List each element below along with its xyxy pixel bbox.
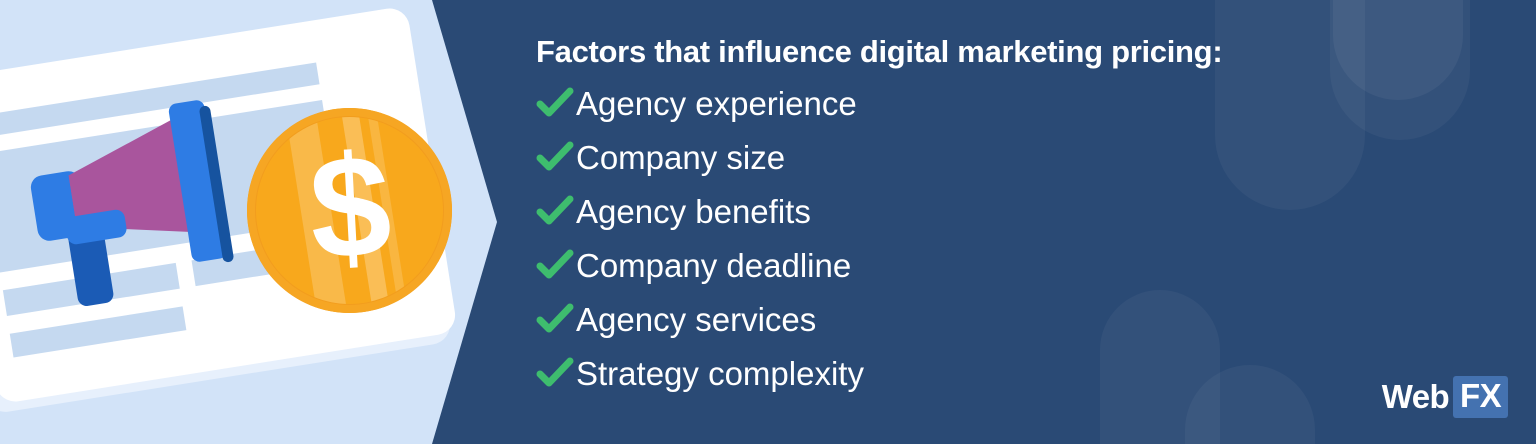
dollar-sign-symbol: $	[242, 103, 457, 318]
list-item-label: Agency experience	[576, 87, 857, 120]
check-icon	[536, 195, 574, 227]
list-item-label: Agency services	[576, 303, 816, 336]
check-icon	[536, 87, 574, 119]
list-item: Agency services	[536, 292, 1356, 346]
list-item: Agency benefits	[536, 184, 1356, 238]
check-icon	[536, 357, 574, 389]
logo-primary-text: Web	[1382, 378, 1449, 416]
list-item: Company deadline	[536, 238, 1356, 292]
list-item-label: Company deadline	[576, 249, 851, 282]
banner-content: Factors that influence digital marketing…	[536, 34, 1356, 400]
list-item: Agency experience	[536, 76, 1356, 130]
check-icon	[536, 249, 574, 281]
megaphone-coin-webpage-illustration: $	[0, 0, 500, 444]
pricing-factors-list: Agency experience Company size Agency be…	[536, 76, 1356, 400]
list-item: Company size	[536, 130, 1356, 184]
check-icon	[536, 303, 574, 335]
list-item-label: Agency benefits	[576, 195, 811, 228]
page-title: Factors that influence digital marketing…	[536, 34, 1356, 70]
check-icon	[536, 141, 574, 173]
list-item-label: Strategy complexity	[576, 357, 864, 390]
dollar-coin-icon: $	[247, 108, 452, 313]
logo-badge-text: FX	[1453, 376, 1508, 418]
megaphone-icon	[30, 95, 270, 355]
list-item-label: Company size	[576, 141, 785, 174]
digital-marketing-pricing-banner: $ Factors that influence digital marketi…	[0, 0, 1536, 444]
webfx-logo: Web FX	[1382, 376, 1508, 418]
list-item: Strategy complexity	[536, 346, 1356, 400]
